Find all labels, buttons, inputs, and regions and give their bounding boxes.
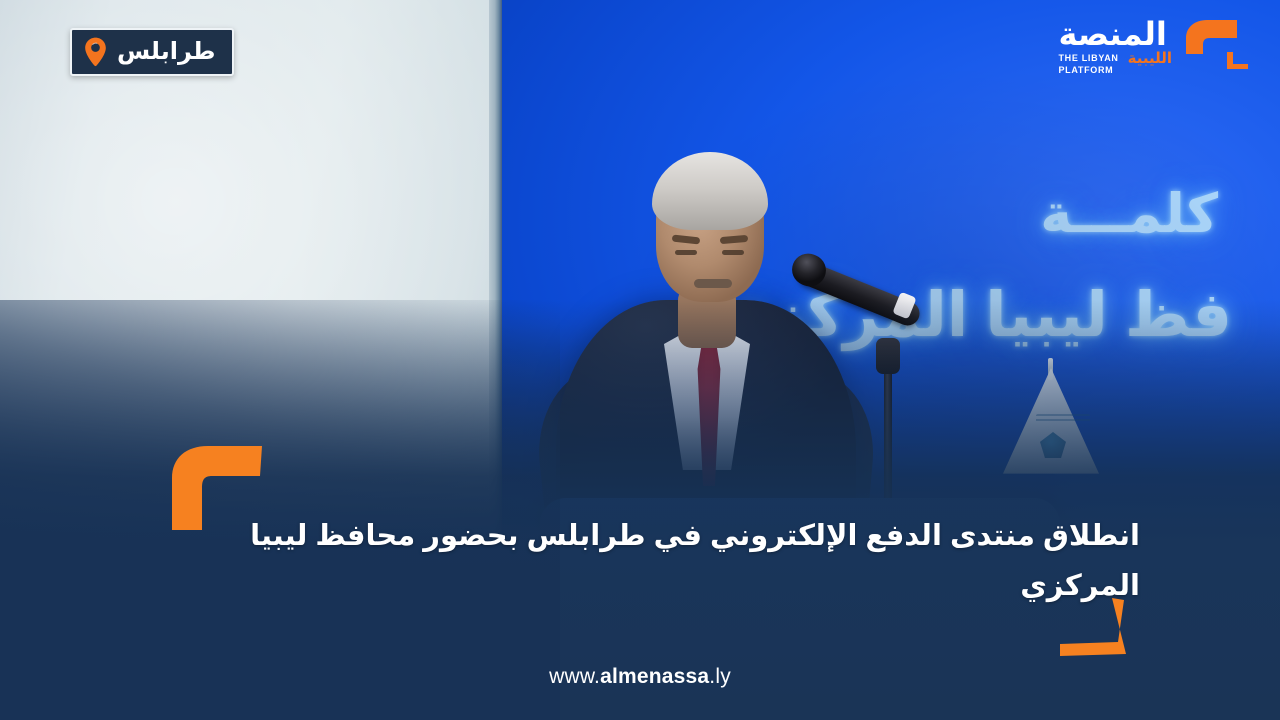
news-card: كلمـــة فظ ليبيا المركزي xyxy=(0,0,1280,720)
location-label: طرابلس xyxy=(117,40,216,64)
brand-subrow: الليبية THE LIBYAN PLATFORM xyxy=(1058,51,1172,76)
brand-english-line1: THE LIBYAN xyxy=(1058,53,1118,63)
speaker-moustache xyxy=(694,279,732,288)
brand-arabic-main: المنصة xyxy=(1058,18,1166,50)
brand-arabic-sub: الليبية xyxy=(1128,51,1172,68)
page-title: انطلاق منتدى الدفع الإلكتروني في طرابلس … xyxy=(210,512,1140,612)
location-badge[interactable]: طرابلس xyxy=(70,28,234,76)
speaker-eye-right xyxy=(722,250,744,255)
left-gradient-scrim xyxy=(0,300,560,720)
site-url[interactable]: www.almenassa.ly xyxy=(0,665,1280,689)
brand-logo[interactable]: المنصة الليبية THE LIBYAN PLATFORM xyxy=(1058,16,1252,78)
speaker-hair xyxy=(652,152,768,230)
speaker-eye-left xyxy=(675,250,697,255)
brand-english: THE LIBYAN PLATFORM xyxy=(1058,51,1118,76)
location-pin-icon xyxy=(84,37,107,67)
brand-wordmark: المنصة الليبية THE LIBYAN PLATFORM xyxy=(1058,18,1172,76)
site-url-prefix: www. xyxy=(549,665,600,688)
site-url-suffix: .ly xyxy=(709,665,731,688)
brand-english-line2: PLATFORM xyxy=(1058,65,1113,75)
site-url-brand: almenassa xyxy=(600,665,709,688)
brand-mark-icon xyxy=(1180,16,1252,78)
